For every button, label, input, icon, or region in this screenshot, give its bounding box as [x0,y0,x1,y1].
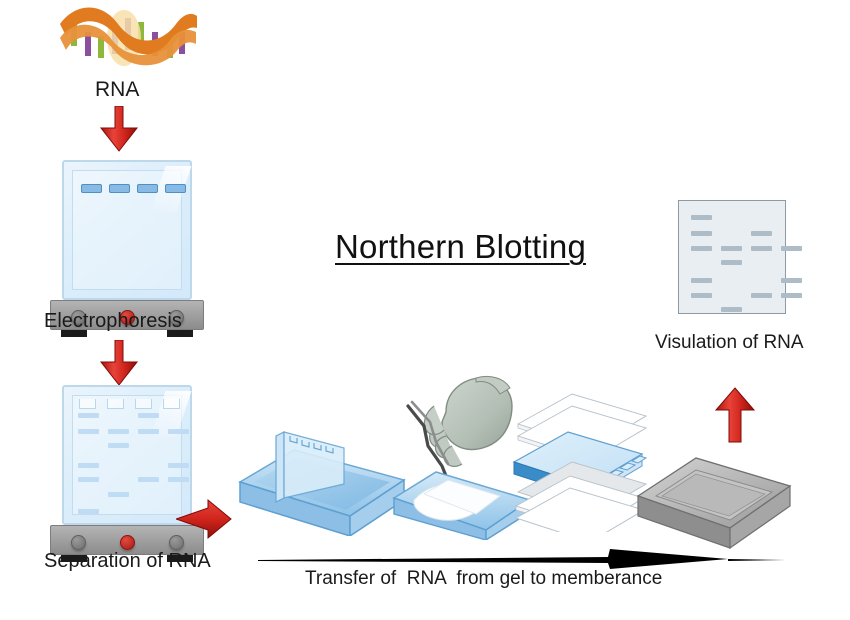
buffer-tray-with-gel [232,424,412,541]
rna-band [781,293,802,298]
gel-well [137,184,158,193]
red-arrow-right-icon [176,498,232,540]
visualization-label: Visulation of RNA [655,332,804,354]
transfer-caption: Transfer of RNA from gel to memberance [305,568,662,590]
gel-well-notch [135,399,152,409]
rna-band [691,215,712,220]
northern-blotting-diagram: RNA [0,0,850,620]
rna-band [781,246,802,251]
autoradiograph-membrane [678,200,786,314]
page-title: Northern Blotting [335,228,586,266]
rna-band [691,231,712,236]
red-arrow-down-icon [97,340,141,386]
gel-well [109,184,130,193]
rna-band [108,443,129,448]
rna-band [108,492,129,497]
transfer-stack-exploded [512,382,652,537]
rna-band [751,231,772,236]
rna-band [138,413,159,418]
rna-band [781,278,802,283]
rna-label: RNA [95,78,139,102]
rna-band [751,293,772,298]
red-arrow-down-icon [97,106,141,152]
rna-band [108,429,129,434]
rna-band [168,429,189,434]
rna-band [168,463,189,468]
rna-band [721,260,742,265]
rna-band [78,509,99,514]
rna-band [138,477,159,482]
gel-glass-plate [62,160,192,300]
rna-band [138,429,159,434]
rna-band [78,429,99,434]
rna-band [751,246,772,251]
rna-band [721,307,742,312]
separation-label: Separation of RNA [44,550,211,573]
electrophoresis-label: Electrophoresis [44,310,182,333]
rna-band [691,246,712,251]
rna-band [78,463,99,468]
gel-well [81,184,102,193]
gel-well [165,184,186,193]
red-arrow-up-icon [713,386,757,444]
rna-band [691,293,712,298]
rna-band [721,246,742,251]
power-button-red[interactable] [120,535,135,550]
rna-strand-icon [58,6,198,77]
film-cassette [634,452,794,563]
rna-band [691,278,712,283]
rna-band [168,477,189,482]
rna-band [78,413,99,418]
gel-glass-plate [62,385,192,525]
control-knob-left[interactable] [71,535,86,550]
gel-well-notch [163,399,180,409]
gel-well-notch [107,399,124,409]
rna-band [78,477,99,482]
gel-well-notch [79,399,96,409]
